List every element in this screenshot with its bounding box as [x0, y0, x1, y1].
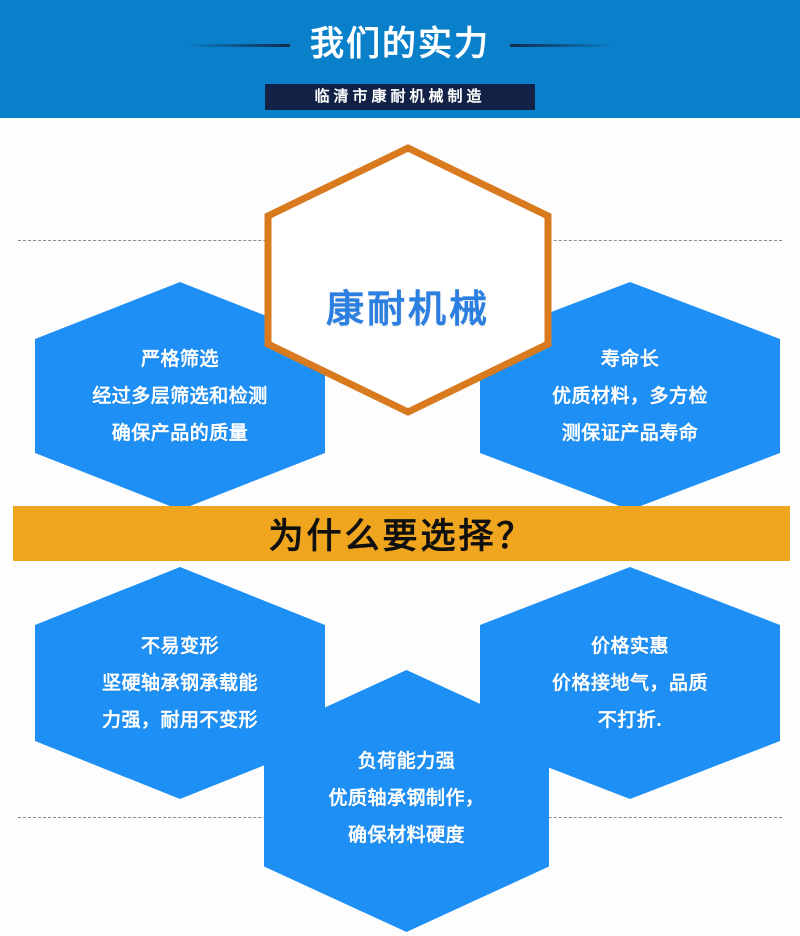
page-title: 我们的实力 — [0, 22, 800, 66]
hexagon-line-3: 力强，耐用不变形 — [102, 702, 258, 739]
hexagon-heading: 不易变形 — [102, 628, 258, 665]
page-header: 我们的实力 临清市康耐机械制造 — [0, 0, 800, 118]
hexagon-text-block: 价格实惠 价格接地气，品质 不打折. — [552, 628, 708, 739]
hexagon-line-3: 测保证产品寿命 — [552, 415, 708, 452]
hexagon-heading: 负荷能力强 — [328, 743, 484, 780]
promo-infographic-page: 我们的实力 临清市康耐机械制造 严格筛选 经过多层筛选和检测 确保产品的质量 寿… — [0, 0, 800, 936]
hexagon-heading: 寿命长 — [552, 341, 708, 378]
hexagon-line-2: 优质材料，多方检 — [552, 378, 708, 415]
hexagon-text-block: 负荷能力强 优质轴承钢制作， 确保材料硬度 — [328, 743, 484, 854]
why-choose-banner: 为什么要选择？ — [13, 506, 790, 561]
hexagon-line-2: 优质轴承钢制作， — [328, 780, 484, 817]
hexagon-line-2: 价格接地气，品质 — [552, 665, 708, 702]
brand-label: 康耐机械 — [326, 278, 490, 333]
hexagon-brand-center[interactable]: 康耐机械 — [264, 144, 552, 416]
hexagon-heading: 严格筛选 — [92, 341, 268, 378]
banner-text: 为什么要选择？ — [13, 506, 790, 561]
hexagon-line-3: 确保产品的质量 — [92, 415, 268, 452]
hexagon-line-3: 确保材料硬度 — [328, 817, 484, 854]
hexagon-text-block: 严格筛选 经过多层筛选和检测 确保产品的质量 — [92, 341, 268, 452]
hexagon-text-block: 寿命长 优质材料，多方检 测保证产品寿命 — [552, 341, 708, 452]
hexagon-line-3: 不打折. — [552, 702, 708, 739]
hexagon-line-2: 坚硬轴承钢承载能 — [102, 665, 258, 702]
hexagon-line-2: 经过多层筛选和检测 — [92, 378, 268, 415]
hexagon-heading: 价格实惠 — [552, 628, 708, 665]
company-name-badge: 临清市康耐机械制造 — [265, 84, 535, 110]
hexagon-text-block: 不易变形 坚硬轴承钢承载能 力强，耐用不变形 — [102, 628, 258, 739]
